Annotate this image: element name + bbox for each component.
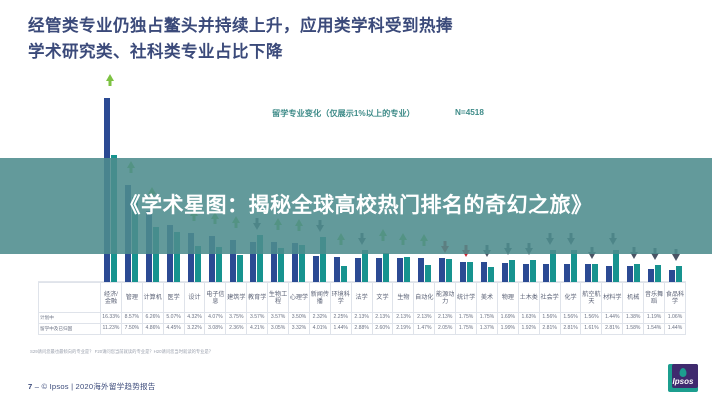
table-category-header: 医学 <box>163 283 184 313</box>
table-cell-value: 1.75% <box>477 313 498 324</box>
table-category-header: 计算机 <box>142 283 163 313</box>
table-cell-value: 1.61% <box>581 324 602 335</box>
table-category-header: 教育学 <box>247 283 268 313</box>
page-title: 经管类专业仍独占鳌头并持续上升，应用类学科受到热捧 学术研究类、社科类专业占比下… <box>28 14 688 65</box>
bar-series-planning <box>606 266 612 282</box>
table-cell-value: 1.06% <box>665 313 686 324</box>
table-cell-value: 2.13% <box>351 313 372 324</box>
bar-series-planning <box>334 257 340 282</box>
bar-series-planning <box>313 256 319 282</box>
table-cell-value: 1.19% <box>644 313 665 324</box>
table-cell-value: 2.81% <box>560 324 581 335</box>
table-cell-value: 4.45% <box>163 324 184 335</box>
table-category-header: 法学 <box>351 283 372 313</box>
table-cell-value: 3.32% <box>289 324 310 335</box>
table-cell-value: 1.69% <box>497 313 518 324</box>
table-cell-value: 2.81% <box>602 324 623 335</box>
table-cell-value: 1.58% <box>623 324 644 335</box>
table-cell-value: 2.13% <box>435 313 456 324</box>
slide-footer: 7 – © Ipsos | 2020海外留学趋势报告 <box>28 381 156 392</box>
table-category-header: 音乐舞蹈 <box>644 283 665 313</box>
bar-series-current <box>655 265 661 282</box>
table-cell-value: 3.22% <box>184 324 205 335</box>
bar-series-planning <box>418 258 424 282</box>
table-category-header: 环境科学 <box>330 283 351 313</box>
table-row: 留学中及已归国11.23%7.50%4.86%4.45%3.22%3.08%2.… <box>39 324 686 335</box>
bar-series-planning <box>564 264 570 282</box>
table-cell-value: 1.38% <box>623 313 644 324</box>
overlay-banner: 《学术星图：揭秘全球高校热门排名的奇幻之旅》 <box>0 158 712 254</box>
table-category-header: 新闻传播 <box>309 283 330 313</box>
table-cell-value: 2.60% <box>372 324 393 335</box>
footer-copyright: © Ipsos | 2020海外留学趋势报告 <box>42 382 156 391</box>
table-category-header: 化学 <box>560 283 581 313</box>
table-cell-value: 1.56% <box>560 313 581 324</box>
bar-series-current <box>488 267 494 282</box>
bar-series-planning <box>460 262 466 282</box>
table-cell-value: 4.01% <box>309 324 330 335</box>
table-category-header: 生物工程 <box>268 283 289 313</box>
bar-series-current <box>592 264 598 282</box>
bar-series-planning <box>543 264 549 282</box>
bar-series-planning <box>648 269 654 282</box>
table-category-header: 物理 <box>497 283 518 313</box>
table-category-header: 土木类 <box>518 283 539 313</box>
table-category-header: 生物 <box>393 283 414 313</box>
table-row-label: 留学中及已归国 <box>39 324 101 335</box>
table-cell-value: 4.21% <box>247 324 268 335</box>
table-cell-value: 2.88% <box>351 324 372 335</box>
bar-series-current <box>530 260 536 282</box>
table-category-header: 社会学 <box>539 283 560 313</box>
table-cell-value: 1.54% <box>644 324 665 335</box>
table-category-header: 设计 <box>184 283 205 313</box>
up-arrow-stem <box>109 81 112 86</box>
bar-series-current <box>446 259 452 282</box>
table-category-header: 材料学 <box>602 283 623 313</box>
data-table: 经济/金融管理计算机医学设计电子信息建筑学教育学生物工程心理学新闻传播环境科学法… <box>38 282 686 335</box>
bar-series-current <box>613 250 619 282</box>
table-cell-value: 3.08% <box>205 324 226 335</box>
bar-series-planning <box>669 270 675 282</box>
footer-page-number: 7 <box>28 382 32 391</box>
table-cell-value: 16.33% <box>101 313 122 324</box>
ipsos-logo: Ipsos <box>668 364 698 392</box>
table-cell-value: 3.05% <box>268 324 289 335</box>
table-cell-value: 2.05% <box>435 324 456 335</box>
table-cell-value: 1.44% <box>330 324 351 335</box>
bar-series-current <box>676 266 682 282</box>
table-category-header: 食品科学 <box>665 283 686 313</box>
table-category-header: 电子信息 <box>205 283 226 313</box>
table-category-header: 心理学 <box>289 283 310 313</box>
table-cell-value: 2.81% <box>539 324 560 335</box>
bar-series-planning <box>439 258 445 282</box>
table-row-label: 计划中 <box>39 313 101 324</box>
table-cell-value: 1.37% <box>477 324 498 335</box>
table-cell-value: 2.36% <box>226 324 247 335</box>
table-cell-value: 2.25% <box>330 313 351 324</box>
table-cell-value: 3.57% <box>268 313 289 324</box>
bar-series-planning <box>355 258 361 282</box>
table-cell-value: 3.50% <box>289 313 310 324</box>
overlay-title: 《学术星图：揭秘全球高校热门排名的奇幻之旅》 <box>26 192 686 220</box>
table-header-row: 经济/金融管理计算机医学设计电子信息建筑学教育学生物工程心理学新闻传播环境科学法… <box>39 283 686 313</box>
up-arrow-icon <box>106 74 114 81</box>
bar-series-current <box>634 264 640 282</box>
table-category-header: 美术 <box>477 283 498 313</box>
bar-series-planning <box>523 264 529 282</box>
bar-series-current <box>237 255 243 282</box>
table-cell-value: 1.47% <box>414 324 435 335</box>
table-cell-value: 3.57% <box>247 313 268 324</box>
bar-series-current <box>467 262 473 282</box>
table-cell-value: 2.13% <box>393 313 414 324</box>
table-cell-value: 6.26% <box>142 313 163 324</box>
footer-dash: – <box>35 382 39 391</box>
table-cell-value: 5.07% <box>163 313 184 324</box>
table-category-header: 能源动力 <box>435 283 456 313</box>
bar-series-current <box>362 250 368 282</box>
bar-series-current <box>341 266 347 282</box>
table-cell-value: 1.75% <box>456 324 477 335</box>
logo-wordmark: Ipsos <box>668 377 698 386</box>
table-cell-value: 8.57% <box>121 313 142 324</box>
table-cell-value: 1.75% <box>456 313 477 324</box>
chart-footnote: S29请问您最也最倾向的专业是？ F20请问您当前就读的专业是？H20请问您当时… <box>30 349 450 355</box>
slide-canvas: 经管类专业仍独占鳌头并持续上升，应用类学科受到热捧 学术研究类、社科类专业占比下… <box>0 0 712 400</box>
logo-droplet-icon <box>680 368 687 377</box>
table-cell-value: 3.75% <box>226 313 247 324</box>
table-cell-value: 4.86% <box>142 324 163 335</box>
table-cell-value: 1.56% <box>539 313 560 324</box>
table-cell-value: 2.32% <box>309 313 330 324</box>
bar-series-current <box>383 253 389 282</box>
table-category-header: 统计学 <box>456 283 477 313</box>
table-cell-value: 2.13% <box>414 313 435 324</box>
table-cell-value: 11.23% <box>101 324 122 335</box>
table-category-header: 建筑学 <box>226 283 247 313</box>
table-cell-value: 2.13% <box>372 313 393 324</box>
bar-series-current <box>550 250 556 282</box>
bar-series-planning <box>627 266 633 282</box>
table-cell-value: 4.07% <box>205 313 226 324</box>
bar-series-current <box>425 265 431 282</box>
table-category-header: 机械 <box>623 283 644 313</box>
table-category-header: 航空航天 <box>581 283 602 313</box>
bar-series-planning <box>481 262 487 282</box>
bar-series-planning <box>376 258 382 282</box>
table-category-header: 文学 <box>372 283 393 313</box>
table-category-header: 自动化 <box>414 283 435 313</box>
table-category-header: 管理 <box>121 283 142 313</box>
table-cell-value: 1.92% <box>518 324 539 335</box>
bar-series-planning <box>397 258 403 282</box>
table-cell-value: 1.44% <box>665 324 686 335</box>
table-cell-value: 1.63% <box>518 313 539 324</box>
table-row: 计划中16.33%8.57%6.26%5.07%4.32%4.07%3.75%3… <box>39 313 686 324</box>
table-corner-cell <box>39 283 101 313</box>
bar-series-planning <box>502 263 508 282</box>
table-cell-value: 4.32% <box>184 313 205 324</box>
down-arrow-icon <box>672 254 680 261</box>
table-cell-value: 1.44% <box>602 313 623 324</box>
table-cell-value: 7.50% <box>121 324 142 335</box>
bar-series-planning <box>585 264 591 282</box>
bar-series-current <box>404 257 410 282</box>
bar-series-current <box>509 260 515 282</box>
table-category-header: 经济/金融 <box>101 283 122 313</box>
table-cell-value: 1.99% <box>497 324 518 335</box>
table-cell-value: 1.56% <box>581 313 602 324</box>
bar-series-current <box>571 250 577 282</box>
table-cell-value: 2.19% <box>393 324 414 335</box>
